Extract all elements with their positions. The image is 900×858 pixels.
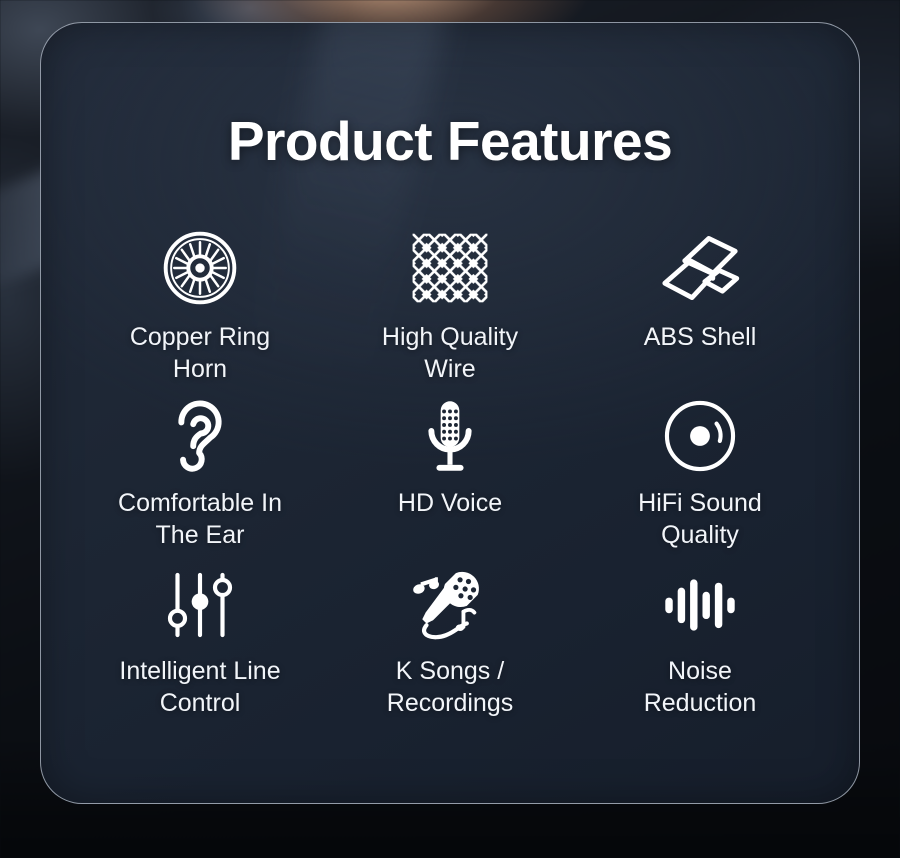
feature-item-comfortable-in-the-ear[interactable]: Comfortable In The Ear bbox=[75, 399, 325, 569]
sound-wave-icon bbox=[662, 569, 738, 641]
feature-label: Comfortable In The Ear bbox=[118, 487, 282, 551]
feature-grid: Copper Ring Horn bbox=[41, 229, 859, 739]
karaoke-mic-notes-icon bbox=[408, 569, 492, 641]
feature-label: Noise Reduction bbox=[644, 655, 757, 719]
feature-item-noise-reduction[interactable]: Noise Reduction bbox=[575, 569, 825, 739]
ear-icon bbox=[170, 399, 230, 473]
copper-ring-horn-icon bbox=[161, 229, 239, 307]
feature-item-copper-ring-horn[interactable]: Copper Ring Horn bbox=[75, 229, 325, 399]
feature-label: ABS Shell bbox=[644, 321, 757, 353]
feature-item-hifi-sound-quality[interactable]: HiFi Sound Quality bbox=[575, 399, 825, 569]
product-features-card: Product Features bbox=[40, 22, 860, 804]
feature-item-hd-voice[interactable]: HD Voice bbox=[325, 399, 575, 569]
equalizer-sliders-icon bbox=[165, 569, 235, 641]
vinyl-disc-icon bbox=[662, 399, 738, 473]
feature-label: Copper Ring Horn bbox=[130, 321, 270, 385]
feature-item-intelligent-line-control[interactable]: Intelligent Line Control bbox=[75, 569, 325, 739]
feature-label: K Songs / Recordings bbox=[387, 655, 513, 719]
feature-label: HD Voice bbox=[398, 487, 502, 519]
feature-item-high-quality-wire[interactable]: High Quality Wire bbox=[325, 229, 575, 399]
page-title: Product Features bbox=[41, 23, 859, 173]
feature-label: HiFi Sound Quality bbox=[638, 487, 762, 551]
feature-label: High Quality Wire bbox=[382, 321, 518, 385]
woven-wire-icon bbox=[411, 229, 489, 307]
feature-item-abs-shell[interactable]: ABS Shell bbox=[575, 229, 825, 399]
abs-ingots-icon bbox=[658, 229, 742, 307]
feature-item-k-songs-recordings[interactable]: K Songs / Recordings bbox=[325, 569, 575, 739]
feature-label: Intelligent Line Control bbox=[119, 655, 280, 719]
microphone-icon bbox=[422, 399, 478, 473]
